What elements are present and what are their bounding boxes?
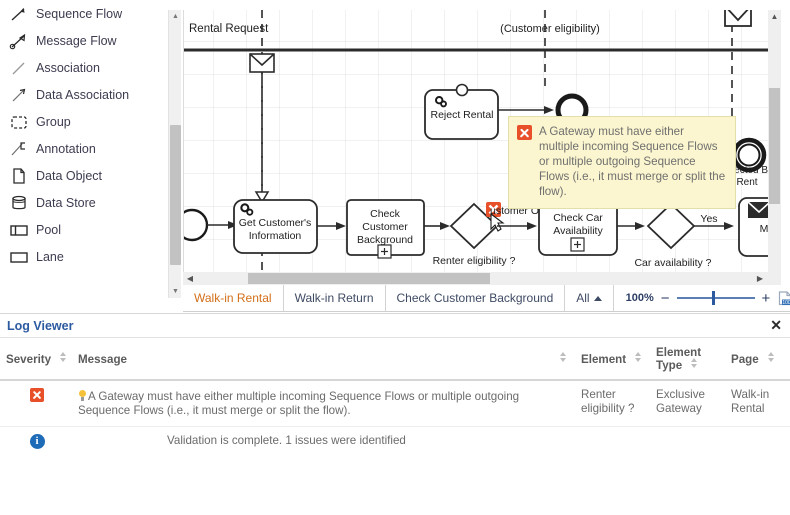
- chevron-up-icon: [594, 296, 602, 301]
- svg-text:Rental Request: Rental Request: [189, 23, 269, 35]
- log-table: Severity Message Element Element Type: [0, 338, 790, 457]
- message-text: A Gateway must have either multiple inco…: [78, 390, 519, 417]
- zoom-slider-track: [677, 297, 755, 299]
- svg-text:Renter eligibility ?: Renter eligibility ?: [433, 255, 516, 267]
- zoom-out-button[interactable]: −: [661, 290, 670, 307]
- message-flow-icon: [6, 30, 32, 52]
- scrollbar-thumb[interactable]: [170, 125, 181, 265]
- palette-item-association[interactable]: Association: [0, 54, 168, 81]
- column-header-element-type[interactable]: Element Type: [650, 338, 725, 380]
- fit-page-100-icon[interactable]: 100: [777, 290, 790, 307]
- palette-item-label: Data Association: [36, 88, 129, 102]
- scroll-right-icon[interactable]: ▶: [753, 272, 767, 285]
- zoom-slider-handle[interactable]: [712, 291, 715, 305]
- sequence-flow-icon: [6, 3, 32, 25]
- column-label: Message: [78, 353, 127, 366]
- lightbulb-icon: [78, 390, 87, 402]
- scroll-up-icon[interactable]: ▲: [169, 10, 182, 23]
- info-icon: i: [30, 434, 45, 449]
- log-viewer-title: Log Viewer: [0, 319, 73, 333]
- tab-label: Check Customer Background: [397, 291, 554, 305]
- svg-text:100: 100: [783, 300, 790, 306]
- message-cell: Validation is complete. 1 issues were id…: [72, 427, 575, 458]
- scrollbar-thumb[interactable]: [769, 88, 780, 204]
- palette-item-data-store[interactable]: Data Store: [0, 189, 168, 216]
- column-header-element[interactable]: Element: [575, 338, 650, 380]
- zoom-slider[interactable]: [677, 291, 755, 305]
- scroll-left-icon[interactable]: ◀: [183, 272, 197, 285]
- zoom-in-button[interactable]: +: [762, 290, 771, 307]
- palette-item-sequence-flow[interactable]: Sequence Flow: [0, 0, 168, 27]
- sort-icon[interactable]: [59, 352, 67, 362]
- palette-item-label: Lane: [36, 250, 64, 264]
- column-header-page[interactable]: Page: [725, 338, 790, 380]
- svg-text:Information: Information: [249, 230, 302, 242]
- element-palette: Sequence Flow Message Flow Association D…: [0, 0, 168, 310]
- column-label: Element: [581, 353, 626, 366]
- palette-item-annotation[interactable]: Annotation: [0, 135, 168, 162]
- tab-check-customer-background[interactable]: Check Customer Background: [386, 285, 566, 311]
- error-icon: [517, 125, 532, 140]
- svg-text:Customer: Customer: [362, 221, 408, 233]
- svg-text:Rent: Rent: [736, 177, 757, 188]
- palette-item-label: Group: [36, 115, 71, 129]
- all-pages-button[interactable]: All: [565, 285, 613, 311]
- palette-scrollbar[interactable]: ▲ ▼: [168, 10, 181, 298]
- palette-item-label: Annotation: [36, 142, 96, 156]
- svg-text:Background: Background: [357, 234, 413, 246]
- palette-item-group[interactable]: Group: [0, 108, 168, 135]
- canvas-horizontal-scrollbar[interactable]: ◀ ▶: [183, 272, 781, 285]
- all-pages-label: All: [576, 291, 589, 305]
- error-icon: [30, 388, 44, 402]
- palette-item-pool[interactable]: Pool: [0, 216, 168, 243]
- severity-cell: i: [0, 427, 72, 458]
- data-association-icon: [6, 84, 32, 106]
- svg-text:(Customer eligibility): (Customer eligibility): [500, 23, 600, 35]
- canvas-vertical-scrollbar[interactable]: ▲ ▼: [768, 10, 781, 282]
- table-row[interactable]: A Gateway must have either multiple inco…: [0, 380, 790, 427]
- svg-text:Availability: Availability: [553, 225, 603, 237]
- palette-item-label: Data Store: [36, 196, 96, 210]
- tab-label: Walk-in Return: [295, 291, 374, 305]
- sort-icon[interactable]: [690, 358, 698, 368]
- page-cell: Walk-in Rental: [725, 380, 790, 427]
- column-label: Severity: [6, 353, 51, 366]
- message-cell: A Gateway must have either multiple inco…: [72, 380, 575, 427]
- association-icon: [6, 57, 32, 79]
- sort-icon[interactable]: [634, 352, 642, 362]
- bpmn-modeler-window: Sequence Flow Message Flow Association D…: [0, 0, 790, 515]
- sort-icon[interactable]: [767, 352, 775, 362]
- element-cell: Renter eligibility ?: [575, 380, 650, 427]
- table-row[interactable]: i Validation is complete. 1 issues were …: [0, 427, 790, 458]
- column-header-message[interactable]: Message: [72, 338, 575, 380]
- tab-walk-in-rental[interactable]: Walk-in Rental: [183, 285, 284, 311]
- page-cell: [725, 427, 790, 458]
- data-store-icon: [6, 192, 32, 214]
- lane-icon: [6, 246, 32, 268]
- column-header-severity[interactable]: Severity: [0, 338, 72, 380]
- palette-item-message-flow[interactable]: Message Flow: [0, 27, 168, 54]
- palette-item-label: Data Object: [36, 169, 102, 183]
- data-object-icon: [6, 165, 32, 187]
- log-table-header-row: Severity Message Element Element Type: [0, 338, 790, 380]
- tab-label: Walk-in Rental: [194, 291, 272, 305]
- scrollbar-thumb[interactable]: [248, 273, 490, 284]
- zoom-controls: 100% − + 100: [614, 285, 790, 311]
- palette-item-label: Association: [36, 61, 100, 75]
- svg-text:Get Customer's: Get Customer's: [239, 217, 312, 229]
- svg-text:Check: Check: [370, 208, 401, 220]
- page-tab-bar: Walk-in Rental Walk-in Return Check Cust…: [183, 285, 790, 312]
- svg-text:Car availability ?: Car availability ?: [634, 257, 711, 269]
- close-icon[interactable]: ✕: [770, 317, 782, 334]
- pool-icon: [6, 219, 32, 241]
- severity-cell: [0, 380, 72, 427]
- zoom-level-label: 100%: [626, 292, 654, 304]
- svg-text:jected B: jected B: [731, 165, 768, 176]
- palette-item-data-association[interactable]: Data Association: [0, 81, 168, 108]
- scroll-up-icon[interactable]: ▲: [768, 10, 781, 23]
- scroll-down-icon[interactable]: ▼: [169, 285, 182, 298]
- palette-item-lane[interactable]: Lane: [0, 243, 168, 270]
- log-viewer-panel: Log Viewer ✕ Severity Message: [0, 313, 790, 515]
- svg-text:Yes: Yes: [700, 213, 717, 225]
- sort-icon[interactable]: [559, 352, 567, 362]
- palette-item-label: Pool: [36, 223, 61, 237]
- validation-tooltip: A Gateway must have either multiple inco…: [508, 116, 736, 209]
- element-type-cell: [650, 427, 725, 458]
- tab-walk-in-return[interactable]: Walk-in Return: [284, 285, 386, 311]
- tooltip-text: A Gateway must have either multiple inco…: [539, 124, 727, 199]
- svg-text:Reject Rental: Reject Rental: [430, 109, 493, 121]
- element-type-cell: Exclusive Gateway: [650, 380, 725, 427]
- log-viewer-header: Log Viewer ✕: [0, 314, 790, 338]
- column-label: Page: [731, 353, 759, 366]
- svg-text:Check Car: Check Car: [553, 212, 603, 224]
- palette-item-label: Message Flow: [36, 34, 117, 48]
- group-icon: [6, 111, 32, 133]
- palette-item-label: Sequence Flow: [36, 7, 122, 21]
- palette-item-data-object[interactable]: Data Object: [0, 162, 168, 189]
- element-cell: [575, 427, 650, 458]
- annotation-icon: [6, 138, 32, 160]
